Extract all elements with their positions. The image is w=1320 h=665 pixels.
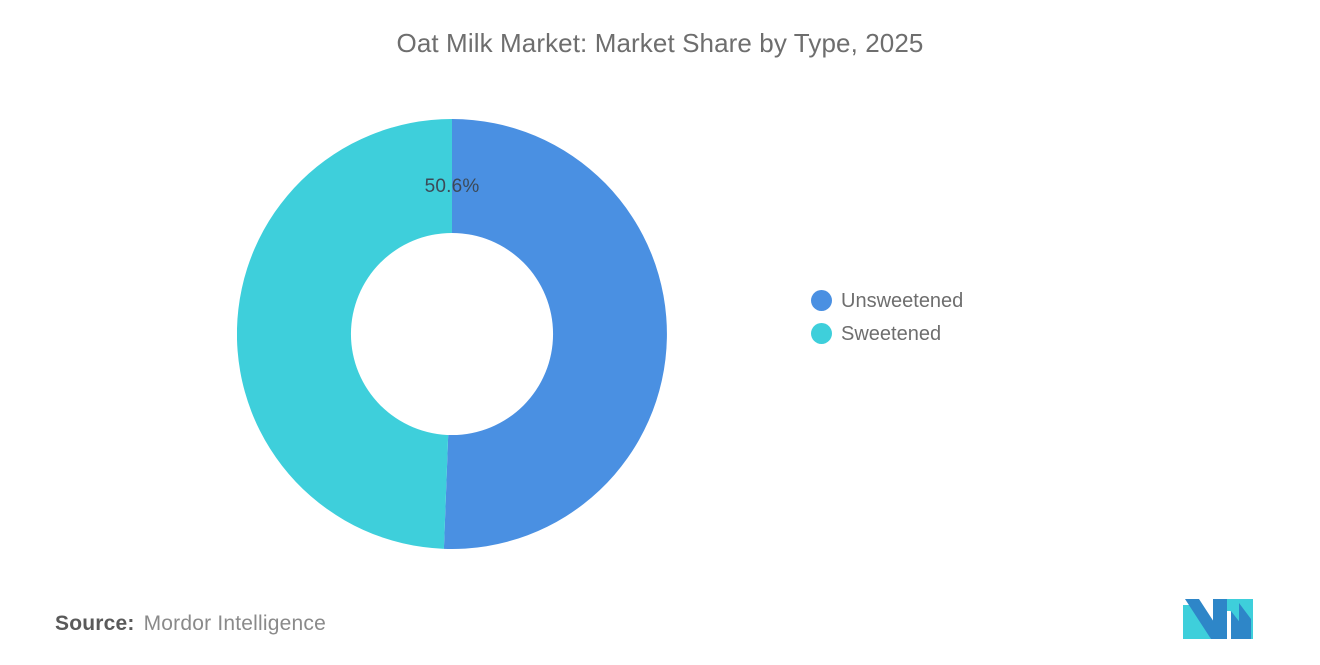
source-value: Mordor Intelligence <box>144 612 326 636</box>
mordor-intelligence-logo-icon <box>1183 597 1253 639</box>
legend-item-unsweetened[interactable]: Unsweetened <box>811 284 1071 317</box>
legend-item-sweetened[interactable]: Sweetened <box>811 317 1071 350</box>
page-title: Oat Milk Market: Market Share by Type, 2… <box>0 28 1320 59</box>
mordor-intelligence-logo <box>1183 597 1253 639</box>
legend-item-label: Sweetened <box>841 324 941 344</box>
donut-center-hole <box>351 233 553 435</box>
source-label: Source: <box>55 612 135 636</box>
circle-marker-icon <box>811 290 832 311</box>
donut-chart-svg <box>237 119 667 549</box>
source-attribution: Source: Mordor Intelligence <box>55 612 326 636</box>
circle-marker-icon <box>811 323 832 344</box>
donut-chart <box>237 119 667 549</box>
chart-legend: Unsweetened Sweetened <box>811 284 1071 350</box>
legend-item-label: Unsweetened <box>841 291 963 311</box>
